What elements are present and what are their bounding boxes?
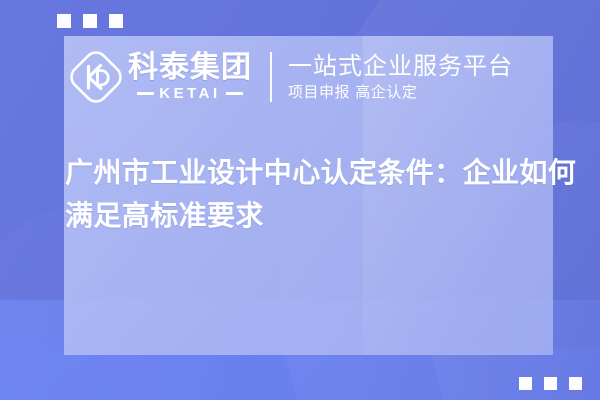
- banner-header: 科泰集团 KETAI 一站式企业服务平台 项目申报 高企认定: [64, 38, 553, 116]
- decorative-square: [83, 14, 97, 28]
- brand-logo[interactable]: 科泰集团 KETAI: [70, 51, 252, 103]
- brand-wordmark: 科泰集团 KETAI: [128, 53, 252, 101]
- decorative-square: [57, 14, 71, 28]
- tagline-primary: 一站式企业服务平台: [288, 53, 513, 80]
- decorative-square: [544, 377, 557, 390]
- wordmark-rule-right: [226, 92, 243, 95]
- page-title: 广州市工业设计中心认定条件：企业如何满足高标准要求: [65, 152, 585, 237]
- brand-name-en-row: KETAI: [128, 86, 252, 101]
- ketai-diamond-kd-logo-icon: [70, 51, 122, 103]
- decorative-square: [569, 377, 582, 390]
- promo-banner: 科泰集团 KETAI 一站式企业服务平台 项目申报 高企认定 广州市工业设计中心…: [0, 0, 600, 400]
- lower-gradient-band-accent: [0, 348, 600, 400]
- decorative-dots-bottom-right: [519, 377, 582, 390]
- tagline-secondary: 项目申报 高企认定: [288, 84, 513, 101]
- header-vertical-divider: [270, 52, 272, 102]
- decorative-square: [109, 14, 123, 28]
- wordmark-rule-left: [137, 92, 154, 95]
- brand-name-cn: 科泰集团: [128, 53, 252, 83]
- brand-name-en: KETAI: [159, 86, 220, 101]
- decorative-square: [519, 377, 532, 390]
- brand-tagline: 一站式企业服务平台 项目申报 高企认定: [288, 53, 513, 101]
- decorative-dots-top-left: [57, 14, 123, 28]
